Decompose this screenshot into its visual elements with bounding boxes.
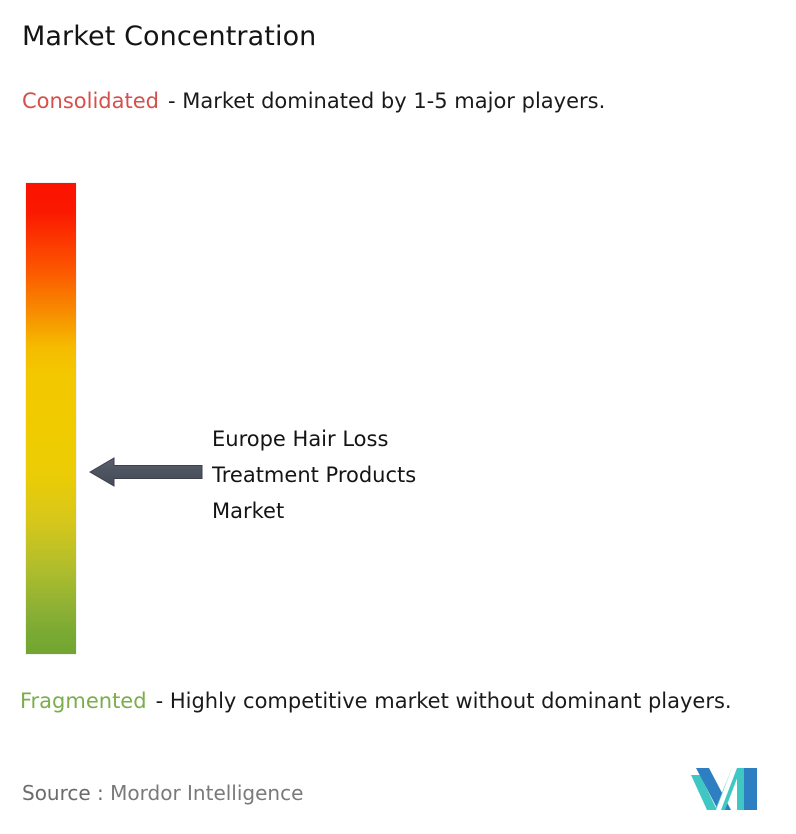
legend-consolidated-description: - Market dominated by 1-5 major players. bbox=[168, 89, 605, 113]
marker-arrow-icon bbox=[88, 455, 204, 489]
legend-fragmented: Fragmented- Highly competitive market wi… bbox=[20, 686, 782, 717]
market-concentration-chart: Market Concentration Consolidated- Marke… bbox=[0, 0, 796, 834]
source-value: Mordor Intelligence bbox=[110, 781, 303, 805]
legend-consolidated: Consolidated- Market dominated by 1-5 ma… bbox=[22, 86, 774, 117]
marker-label-line-3: Market bbox=[212, 493, 542, 529]
source-label: Source : bbox=[22, 781, 104, 805]
concentration-gradient-bar bbox=[26, 183, 76, 654]
marker-label: Europe Hair Loss Treatment Products Mark… bbox=[212, 421, 542, 529]
legend-fragmented-keyword: Fragmented bbox=[20, 689, 147, 713]
marker-label-line-2: Treatment Products bbox=[212, 457, 542, 493]
page-title: Market Concentration bbox=[22, 20, 316, 54]
legend-fragmented-description: - Highly competitive market without domi… bbox=[156, 689, 732, 713]
marker-label-line-1: Europe Hair Loss bbox=[212, 421, 542, 457]
mordor-intelligence-logo-icon bbox=[691, 768, 757, 810]
legend-consolidated-keyword: Consolidated bbox=[22, 89, 159, 113]
source-attribution: Source : Mordor Intelligence bbox=[22, 780, 303, 806]
